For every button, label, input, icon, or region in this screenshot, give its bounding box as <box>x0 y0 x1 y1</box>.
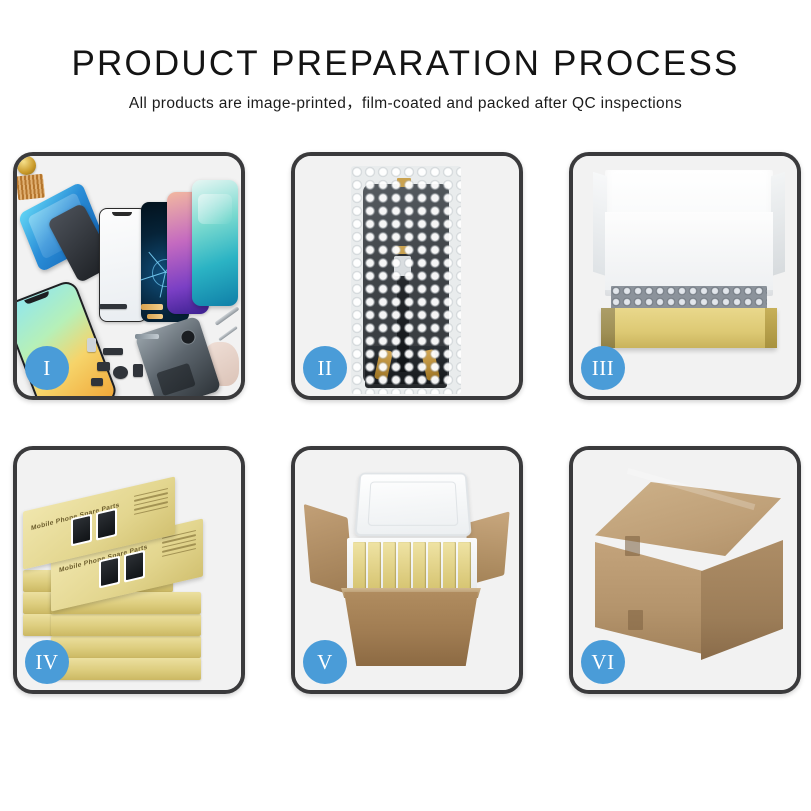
carton-tape-patch <box>628 610 643 630</box>
yellow-box <box>368 542 381 590</box>
page-title: PRODUCT PREPARATION PROCESS <box>0 44 811 84</box>
flex-cable <box>141 304 163 310</box>
bubble-texture <box>351 166 461 394</box>
process-step-panel-2[interactable]: II <box>291 152 523 400</box>
spare-part <box>133 364 143 377</box>
process-step-panel-6[interactable]: VI <box>569 446 801 694</box>
flex-cable <box>135 334 159 339</box>
step-badge-5: V <box>303 640 347 684</box>
phone-thumb <box>99 556 120 589</box>
carton-left-face <box>595 542 703 654</box>
gold-coil-icon <box>17 156 36 175</box>
teal-phone-icon <box>192 180 238 306</box>
step-badge-2: II <box>303 346 347 390</box>
stacked-box <box>51 636 201 658</box>
yellow-inner-box <box>601 308 777 348</box>
carton-right-face <box>701 540 783 660</box>
copper-chip-icon <box>17 174 45 201</box>
yellow-box <box>428 542 441 590</box>
spare-part <box>97 362 110 371</box>
yellow-box <box>398 542 411 590</box>
spare-part <box>99 304 127 309</box>
spare-part <box>103 348 123 355</box>
camera-lens-icon <box>179 328 198 347</box>
carton-tape-patch <box>625 536 640 556</box>
yellow-boxes-row <box>353 542 471 590</box>
phone-thumb <box>71 514 92 547</box>
yellow-box <box>413 542 426 590</box>
phone-back-housing-icon <box>135 316 222 396</box>
phone-thumb <box>96 508 117 541</box>
spare-part <box>87 338 96 352</box>
yellow-box <box>458 542 471 590</box>
process-step-panel-1[interactable]: I <box>13 152 245 400</box>
foam-sheet <box>605 212 773 290</box>
process-step-panel-4[interactable]: Mobile Phone Spare Parts Mobile Phone Sp… <box>13 446 245 694</box>
step-badge-3: III <box>581 346 625 390</box>
carton-body <box>335 592 487 666</box>
step-badge-1: I <box>25 346 69 390</box>
bubble-wrap-sleeve <box>351 166 461 394</box>
page-header: PRODUCT PREPARATION PROCESS All products… <box>0 0 811 115</box>
yellow-box <box>353 542 366 590</box>
page-subtitle: All products are image-printed，film-coat… <box>0 93 811 115</box>
process-step-panel-3[interactable]: III <box>569 152 801 400</box>
repair-tool-icon <box>214 306 239 326</box>
battery-icon <box>156 363 196 396</box>
process-step-panel-5[interactable]: V <box>291 446 523 694</box>
step-badge-6: VI <box>581 640 625 684</box>
carton-top-face <box>595 482 781 556</box>
yellow-box <box>383 542 396 590</box>
stacked-box <box>51 614 201 636</box>
process-step-grid: I II <box>13 152 800 694</box>
stacked-box <box>51 658 201 680</box>
yellow-box <box>443 542 456 590</box>
white-foam-lid <box>354 473 471 537</box>
flex-cable <box>147 314 163 319</box>
spare-part <box>91 378 103 386</box>
phone-thumb <box>124 550 145 583</box>
spare-part <box>113 366 128 379</box>
step-badge-4: IV <box>25 640 69 684</box>
box-spec-lines <box>134 488 168 518</box>
repair-tool-icon <box>218 326 238 341</box>
